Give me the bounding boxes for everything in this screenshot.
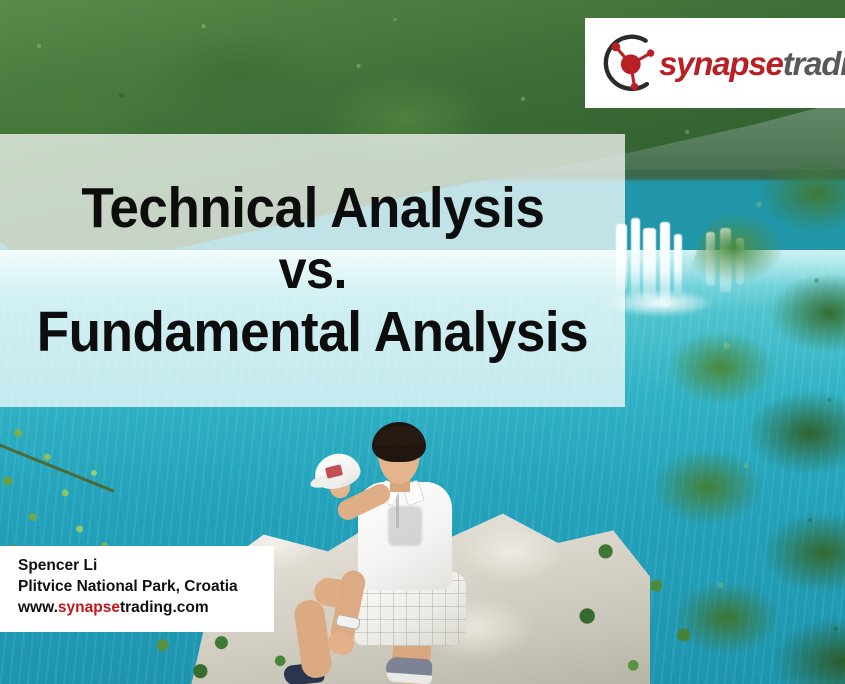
logo-word-synapse: synapse [659, 45, 783, 82]
caption-location: Plitvice National Park, Croatia [18, 576, 274, 597]
website-prefix: www. [18, 599, 58, 616]
title-line-1: Technical Analysis [81, 178, 544, 240]
slide-canvas: Technical Analysis vs. Fundamental Analy… [0, 0, 845, 684]
title-line-3: Fundamental Analysis [37, 302, 588, 364]
logo-word-trading: trading [783, 45, 845, 82]
logo-plate[interactable]: synapsetrading [585, 18, 845, 108]
seated-person [300, 420, 530, 684]
shirt-graphic [388, 506, 422, 546]
caption-box: Spencer Li Plitvice National Park, Croat… [0, 546, 274, 632]
moss-right [555, 502, 785, 684]
logo-wordmark: synapsetrading [659, 47, 845, 80]
synapse-node-arc-icon [601, 32, 663, 94]
title-overlay-panel: Technical Analysis vs. Fundamental Analy… [0, 134, 625, 407]
website-brand: synapse [58, 599, 120, 616]
title-line-2: vs. [278, 241, 346, 299]
shirt-placket [396, 494, 399, 528]
caption-website[interactable]: www.synapsetrading.com [18, 597, 274, 618]
caption-author: Spencer Li [18, 555, 274, 576]
website-suffix: trading.com [120, 599, 209, 616]
right-shoe-sole [386, 672, 433, 684]
